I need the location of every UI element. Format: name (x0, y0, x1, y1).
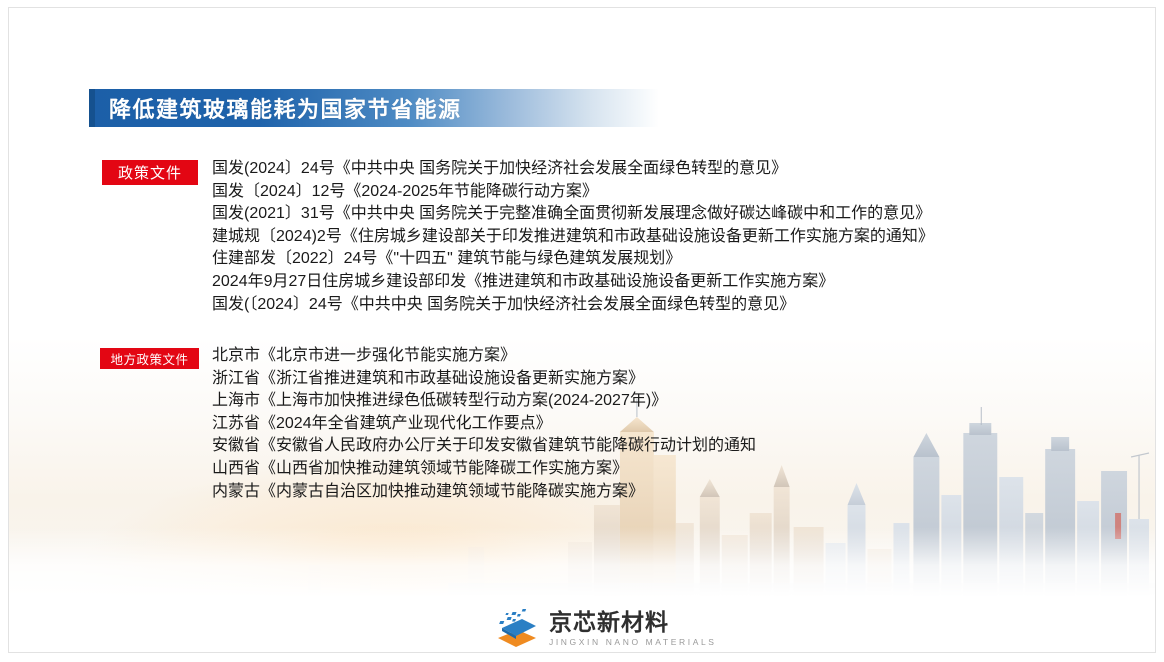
badge-label: 地方政策文件 (110, 349, 188, 368)
list-item: 国发(2021〕31号《中共中央 国务院关于完整准确全面贯彻新发展理念做好碳达峰… (212, 203, 934, 226)
slide-page: 降低建筑玻璃能耗为国家节省能源 政策文件 国发(2024〕24号《中共中央 国务… (8, 7, 1156, 653)
list-item: 北京市《北京市进一步强化节能实施方案》 (212, 345, 756, 368)
local-policy-document-list: 北京市《北京市进一步强化节能实施方案》 浙江省《浙江省推进建筑和市政基础设施设备… (212, 345, 756, 503)
list-item: 建城规〔2024)2号《住房城乡建设部关于印发推进建筑和市政基础设施设备更新工作… (212, 226, 934, 249)
list-item: 浙江省《浙江省推进建筑和市政基础设施设备更新实施方案》 (212, 368, 756, 391)
list-item: 安徽省《安徽省人民政府办公厅关于印发安徽省建筑节能降碳行动计划的通知 (212, 435, 756, 458)
list-item: 江苏省《2024年全省建筑产业现代化工作要点》 (212, 413, 756, 436)
list-item: 住建部发〔2022〕24号《"十四五" 建筑节能与绿色建筑发展规划》 (212, 248, 934, 271)
list-item: 国发(2024〕24号《中共中央 国务院关于加快经济社会发展全面绿色转型的意见》 (212, 158, 934, 181)
title-accent-bar (89, 89, 95, 127)
logo-wordmark: 京芯新材料 JINGXIN NANO MATERIALS (549, 611, 717, 647)
policy-document-list: 国发(2024〕24号《中共中央 国务院关于加快经济社会发展全面绿色转型的意见》… (212, 158, 934, 316)
list-item: 2024年9月27日住房城乡建设部印发《推进建筑和市政基础设施设备更新工作实施方… (212, 271, 934, 294)
list-item: 山西省《山西省加快推动建筑领域节能降碳工作实施方案》 (212, 458, 756, 481)
list-item: 上海市《上海市加快推进绿色低碳转型行动方案(2024-2027年)》 (212, 390, 756, 413)
badge-label: 政策文件 (118, 162, 182, 183)
list-item: 内蒙古《内蒙古自治区加快推动建筑领域节能降碳实施方案》 (212, 481, 756, 504)
status-badge-policy: 政策文件 (102, 160, 198, 185)
page-title: 降低建筑玻璃能耗为国家节省能源 (109, 92, 462, 124)
slide-canvas: 降低建筑玻璃能耗为国家节省能源 政策文件 国发(2024〕24号《中共中央 国务… (0, 0, 1164, 662)
logo-mark-icon (492, 608, 540, 650)
list-item: 国发(〔2024〕24号《中共中央 国务院关于加快经济社会发展全面绿色转型的意见… (212, 294, 934, 317)
company-logo: 京芯新材料 JINGXIN NANO MATERIALS (492, 608, 717, 650)
logo-name-en: JINGXIN NANO MATERIALS (549, 638, 717, 647)
status-badge-local-policy: 地方政策文件 (100, 348, 199, 369)
list-item: 国发〔2024〕12号《2024-2025年节能降碳行动方案》 (212, 181, 934, 204)
logo-name-cn: 京芯新材料 (549, 611, 717, 634)
slide-title-band: 降低建筑玻璃能耗为国家节省能源 (89, 89, 659, 127)
skyline-bottom-fade (9, 527, 1155, 597)
